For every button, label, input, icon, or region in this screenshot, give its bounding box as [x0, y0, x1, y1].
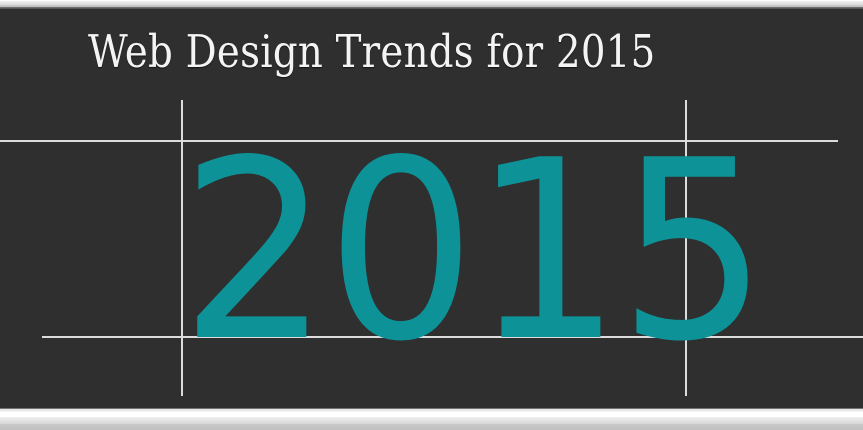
slide-title: Web Design Trends for 2015 [88, 29, 655, 74]
viewer-top-chrome-bar [0, 0, 863, 9]
viewer-bottom-chrome-bar [0, 408, 863, 430]
year-display-text: 2015 [180, 128, 764, 376]
slide-viewer: Web Design Trends for 2015 2015 [0, 0, 863, 430]
slide-canvas[interactable]: Web Design Trends for 2015 2015 [0, 9, 863, 408]
